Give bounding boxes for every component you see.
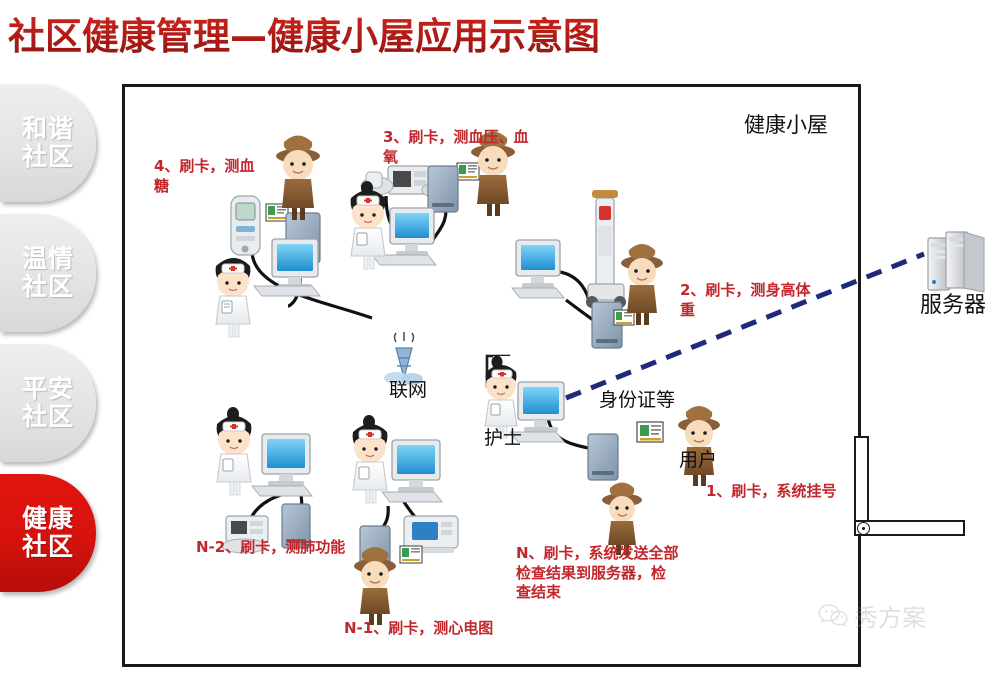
room-title-label: 健康小屋 bbox=[744, 112, 828, 139]
wechat-icon bbox=[818, 603, 848, 629]
tab-label-line1: 平安 bbox=[22, 375, 74, 403]
sidebar-item-harmonious-community[interactable]: 和谐 社区 bbox=[0, 84, 96, 202]
tab-label-line2: 社区 bbox=[22, 533, 74, 561]
network-label: 联网 bbox=[389, 378, 427, 403]
tab-label-line1: 和谐 bbox=[22, 115, 74, 143]
step-n1-label: N-1、刷卡，测心电图 bbox=[344, 619, 574, 639]
tab-label-line2: 社区 bbox=[22, 403, 74, 431]
tab-label-line1: 温情 bbox=[22, 245, 74, 273]
tab-label-line1: 健康 bbox=[22, 505, 74, 533]
community-tab-list: 和谐 社区 温情 社区 平安 社区 健康 社区 bbox=[0, 84, 104, 604]
sidebar-item-safe-community[interactable]: 平安 社区 bbox=[0, 344, 96, 462]
sidebar-item-warm-community[interactable]: 温情 社区 bbox=[0, 214, 96, 332]
watermark: 秀方案 bbox=[818, 598, 926, 633]
door-hinge-icon bbox=[857, 522, 870, 535]
page-title: 社区健康管理—健康小屋应用示意图 bbox=[8, 6, 600, 60]
step-n-label: N、刷卡，系统发送全部 检查结果到服务器，检 查结束 bbox=[516, 544, 726, 603]
sidebar-item-health-community[interactable]: 健康 社区 bbox=[0, 474, 96, 592]
tab-label-line2: 社区 bbox=[22, 273, 74, 301]
door-panel-horizontal bbox=[854, 520, 965, 536]
tab-label-line2: 社区 bbox=[22, 143, 74, 171]
watermark-text: 秀方案 bbox=[854, 598, 926, 633]
user-label: 用户 bbox=[679, 448, 717, 473]
server-icon bbox=[928, 232, 984, 292]
step-4-label: 4、刷卡，测血 糖 bbox=[154, 157, 264, 196]
step-1-label: 1、刷卡，系统挂号 bbox=[706, 482, 896, 502]
nurse-label: 护士 bbox=[484, 426, 522, 451]
step-2-label: 2、刷卡，测身高体 重 bbox=[680, 281, 830, 320]
id-card-label: 身份证等 bbox=[599, 388, 675, 413]
step-3-label: 3、刷卡，测血压、血 氧 bbox=[383, 128, 543, 167]
step-n2-label: N-2、刷卡，测肺功能 bbox=[196, 538, 426, 558]
server-label: 服务器 bbox=[920, 292, 986, 321]
slide-canvas: 社区健康管理—健康小屋应用示意图 和谐 社区 温情 社区 平安 社区 健康 社区 bbox=[0, 0, 996, 673]
